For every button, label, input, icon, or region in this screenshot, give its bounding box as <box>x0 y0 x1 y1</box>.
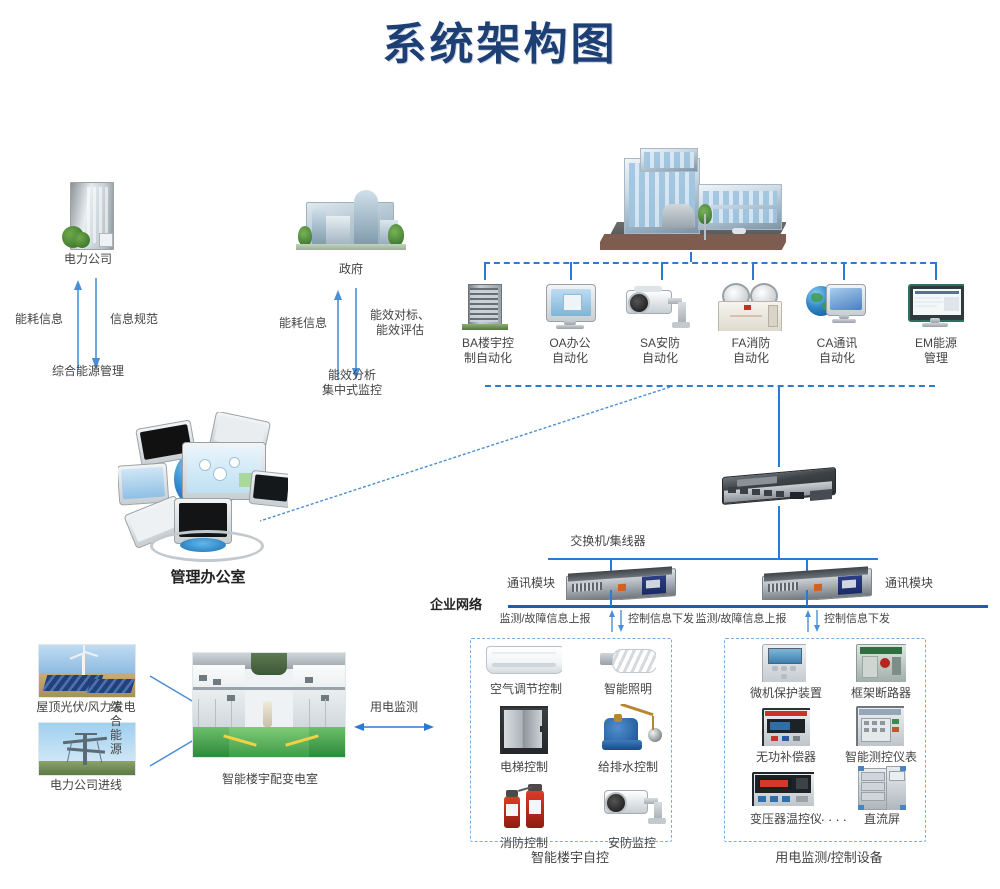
management-office-link <box>255 385 675 525</box>
subsystem-label-3: FA消防 自动化 <box>717 336 785 366</box>
government-down-arrow-label: 能效对标、 能效评估 <box>364 308 436 338</box>
power-company-label: 电力公司 <box>38 252 138 267</box>
elevator-icon <box>500 706 548 754</box>
smart-meter-icon <box>856 706 904 746</box>
building-to-bus-connector <box>690 252 692 262</box>
emergency-light-icon <box>718 283 784 331</box>
building-automation-icon <box>462 282 510 330</box>
ba-item-label-3: 给排水控制 <box>586 760 670 775</box>
monitor-arrow-label: 用电监测 <box>352 700 436 715</box>
flow-right-arrows <box>804 610 822 632</box>
communication-module-icon <box>566 566 676 600</box>
pm-item-label-2: 无功补偿器 <box>742 750 830 765</box>
enterprise-network-bus <box>508 605 988 608</box>
enterprise-left-drop <box>610 590 612 606</box>
cfl-bulb-icon <box>600 643 656 677</box>
surveillance-camera-icon <box>604 788 668 828</box>
air-conditioner-icon <box>486 646 562 676</box>
comm-module-left-label: 通讯模块 <box>498 576 564 591</box>
building-automation-caption: 智能楼宇自控 <box>500 850 640 865</box>
office-tower-icon <box>62 182 114 252</box>
comm-module-right-label: 通讯模块 <box>876 576 942 591</box>
integrated-energy-management-label: 综合能源管理 <box>28 364 148 379</box>
pm-item-label-0: 微机保护装置 <box>740 686 832 701</box>
subsystem-label-4: CA通讯 自动化 <box>803 336 871 366</box>
grid-incoming-label: 电力公司进线 <box>28 778 144 793</box>
transformer-temp-controller-icon <box>752 772 814 806</box>
subsystem-drop-3 <box>752 262 754 280</box>
flow-left-arrows <box>608 610 626 632</box>
monitor-double-arrow <box>354 720 434 734</box>
reactive-compensator-icon <box>762 708 810 746</box>
power-company-down-arrow-label: 信息规范 <box>100 312 168 327</box>
substation-corridor-photo <box>192 652 346 758</box>
page-title: 系统架构图 <box>0 8 1000 72</box>
dc-panel-icon <box>858 766 906 810</box>
subsystem-label-1: OA办公 自动化 <box>536 336 604 366</box>
flow-right-down-label: 控制信息下发 <box>824 612 918 627</box>
converge-label: 综合能源 <box>108 700 124 756</box>
subsystem-label-2: SA安防 自动化 <box>626 336 694 366</box>
subsystem-label-0: BA楼宇控 制自动化 <box>452 336 524 366</box>
switch-label: 交换机/集线器 <box>538 534 678 549</box>
power-monitoring-ellipsis: ······ <box>788 812 868 827</box>
subsystem-drop-2 <box>661 262 663 280</box>
switch-top-connector <box>778 385 780 467</box>
government-building-icon <box>296 190 406 252</box>
power-company-up-arrow-label: 能耗信息 <box>8 312 70 327</box>
comm-module-bus-line <box>548 558 878 560</box>
subsystem-drop-5 <box>935 262 937 280</box>
pm-item-label-1: 框架断路器 <box>838 686 924 701</box>
office-monitor-icon <box>544 284 596 330</box>
government-up-arrow-label: 能耗信息 <box>272 316 334 331</box>
power-monitoring-caption: 用电监测/控制设备 <box>754 850 904 865</box>
flow-left-up-label: 监测/故障信息上报 <box>484 612 606 627</box>
solar-wind-photo <box>38 644 136 698</box>
fire-extinguisher-icon <box>502 782 554 830</box>
subsystem-label-5: EM能源 管理 <box>902 336 970 366</box>
government-label: 政府 <box>306 262 396 277</box>
management-office-label: 管理办公室 <box>148 570 268 585</box>
protection-relay-icon <box>762 644 806 682</box>
ba-item-label-2: 电梯控制 <box>486 760 562 775</box>
subsystem-drop-0 <box>484 262 486 280</box>
flow-right-up-label: 监测/故障信息上报 <box>680 612 802 627</box>
globe-monitor-icon <box>806 282 866 330</box>
subsystem-bus-line <box>484 262 936 264</box>
ba-item-label-5: 安防监控 <box>594 836 670 851</box>
smart-building-icon <box>600 148 786 254</box>
enterprise-right-drop <box>806 590 808 606</box>
energy-monitor-icon <box>908 284 964 330</box>
enterprise-network-label: 企业网络 <box>430 597 502 612</box>
switch-bottom-connector <box>778 506 780 558</box>
air-circuit-breaker-icon <box>856 644 906 682</box>
ba-item-label-4: 消防控制 <box>486 836 562 851</box>
substation-label: 智能楼宇配变电室 <box>196 772 344 787</box>
security-camera-icon <box>626 286 690 330</box>
ba-item-label-1: 智能照明 <box>586 682 670 697</box>
multi-screen-globe-icon <box>118 412 288 562</box>
water-valve-icon <box>602 704 664 754</box>
subsystem-drop-4 <box>843 262 845 280</box>
pm-item-label-3: 智能测控仪表 <box>836 750 926 765</box>
communication-module-icon <box>762 566 872 600</box>
ba-item-label-0: 空气调节控制 <box>480 682 572 697</box>
subsystem-drop-1 <box>570 262 572 280</box>
renewable-label: 屋顶光伏/风力发电 <box>18 700 154 715</box>
